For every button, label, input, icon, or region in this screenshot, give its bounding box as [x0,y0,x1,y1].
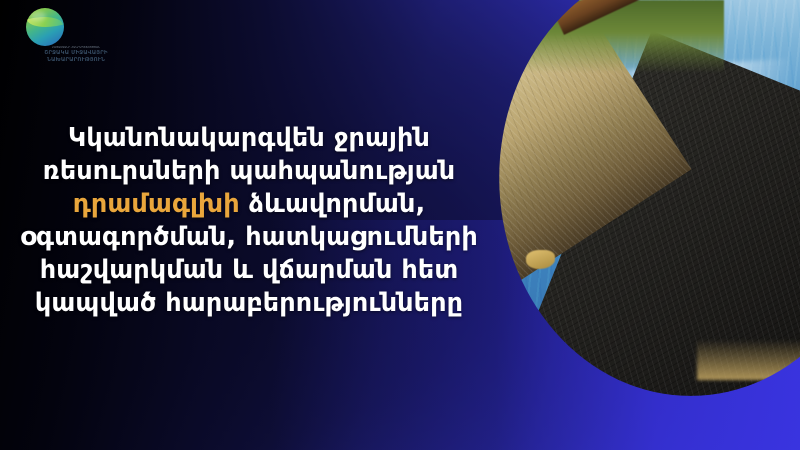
headline-line: Կկանոնակարգվեն ջրային [14,122,484,155]
headline-line: հաշվարկման և վճարման հետ [14,254,484,287]
headline-segment: օգտագործման, հատկացումների [20,222,478,252]
globe-leaf-logo-icon [26,8,64,46]
headline-segment: կապված հարաբերությունները [35,288,463,318]
logo-organization-line: ՇՐՋԱԿԱ ՄԻՋԱՎԱՅՐԻ [16,50,136,57]
headline-text: Կկանոնակարգվեն ջրայինռեսուրսների պահպանո… [14,122,484,320]
headline-segment: ձևավորման, [240,189,426,219]
headline-segment: ռեսուրսների պահպանության [43,156,455,186]
headline-line: օգտագործման, հատկացումների [14,221,484,254]
headline-segment: հաշվարկման և վճարման հետ [40,255,459,285]
logo-organization-line: ՆԱԽԱՐԱՐՈՒԹՅՈՒՆ [16,57,136,64]
ministry-logo: ՀԱՅԱՍՏԱՆԻ ՀԱՆՐԱՊԵՏՈՒԹՅԱՆ ՇՐՋԱԿԱ ՄԻՋԱՎԱՅՐ… [16,6,136,64]
headline-segment: Կկանոնակարգվեն ջրային [68,123,430,153]
headline-highlight-term: դրամագլխի [73,189,240,219]
headline-line: դրամագլխի ձևավորման, [14,188,484,221]
globe-highlight [30,11,46,21]
logo-organization: ՇՐՋԱԿԱ ՄԻՋԱՎԱՅՐԻՆԱԽԱՐԱՐՈՒԹՅՈՒՆ [16,50,136,65]
logo-tagline: ՀԱՅԱՍՏԱՆԻ ՀԱՆՐԱՊԵՏՈՒԹՅԱՆ [16,46,136,49]
slide-canvas: ՀԱՅԱՍՏԱՆԻ ՀԱՆՐԱՊԵՏՈՒԹՅԱՆ ՇՐՋԱԿԱ ՄԻՋԱՎԱՅՐ… [0,0,800,450]
headline-line: կապված հարաբերությունները [14,287,484,320]
headline-line: ռեսուրսների պահպանության [14,155,484,188]
